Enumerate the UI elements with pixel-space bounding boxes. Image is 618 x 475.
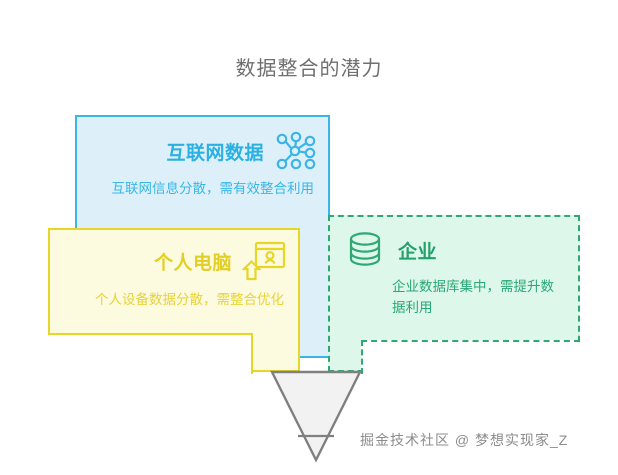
card-enterprise-heading: 企业 — [398, 237, 437, 264]
card-internet-header: 互联网数据 — [77, 117, 328, 171]
card-enterprise-notch — [361, 340, 580, 374]
monitor-user-icon — [242, 240, 286, 282]
card-enterprise-header: 企业 — [330, 217, 578, 271]
funnel-icon — [268, 368, 364, 464]
infographic-canvas: 数据整合的潜力 互联网数据 — [0, 0, 618, 475]
card-internet-heading: 互联网数据 — [166, 138, 264, 165]
card-personal-header: 个人电脑 — [50, 230, 298, 282]
card-internet-body: 互联网信息分散，需有效整合利用 — [77, 171, 328, 200]
card-enterprise-body: 企业数据库集中，需提升数据利用 — [330, 271, 578, 319]
database-icon — [344, 229, 386, 271]
card-personal-body: 个人设备数据分散，需整合优化 — [50, 282, 298, 311]
card-personal-notch — [48, 333, 253, 374]
network-nodes-icon — [274, 131, 316, 171]
card-personal-heading: 个人电脑 — [154, 248, 232, 275]
watermark-text: 掘金技术社区 @ 梦想实现家_Z — [360, 430, 568, 450]
page-title: 数据整合的潜力 — [0, 52, 618, 81]
